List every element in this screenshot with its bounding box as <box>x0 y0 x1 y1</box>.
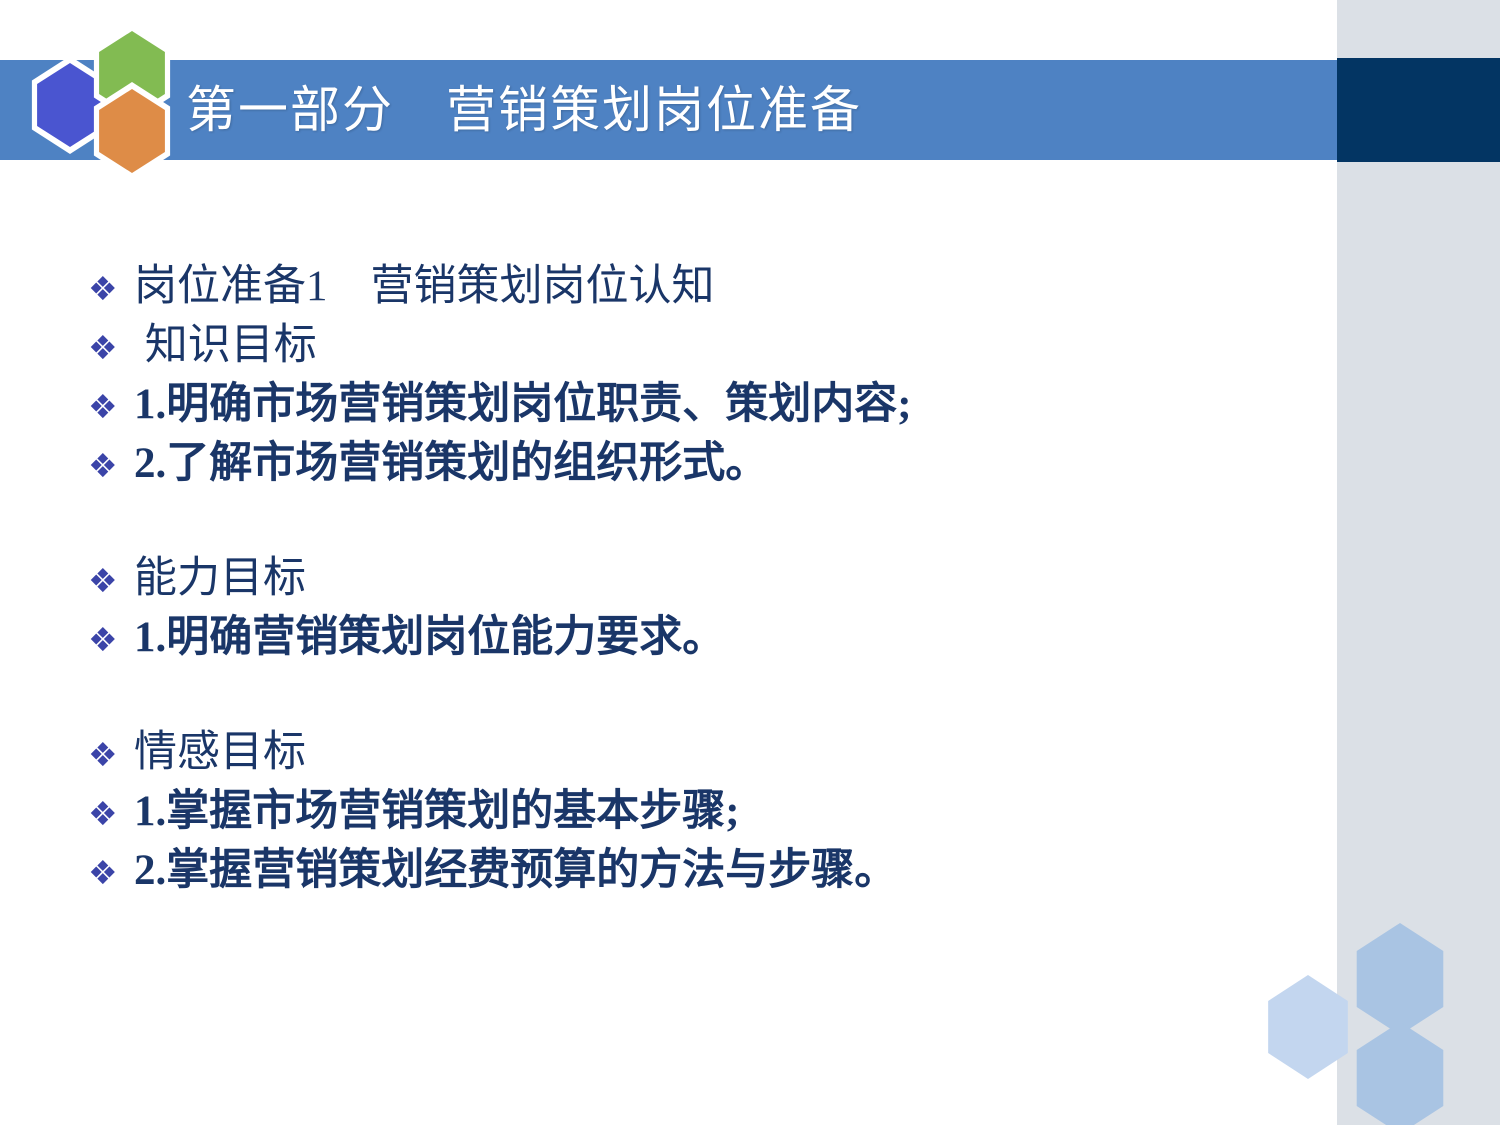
list-item-label: 情感目标 <box>134 724 306 781</box>
list-item-label: 2.掌握营销策划经费预算的方法与步骤。 <box>134 842 897 899</box>
list-item: ❖岗位准备1 营销策划岗位认知 <box>88 258 1288 317</box>
diamond-bullet-icon: ❖ <box>88 611 134 668</box>
list-item: ❖2.了解市场营销策划的组织形式。 <box>88 435 1288 494</box>
diamond-bullet-icon: ❖ <box>88 785 134 842</box>
list-item-label: 能力目标 <box>134 550 306 607</box>
list-item-label: 1.掌握市场营销策划的基本步骤; <box>134 783 740 840</box>
diamond-bullet-icon: ❖ <box>88 844 134 901</box>
diamond-bullet-icon: ❖ <box>88 726 134 783</box>
list-item: ❖1.明确市场营销策划岗位职责、策划内容; <box>88 376 1288 435</box>
list-item: ❖1.明确营销策划岗位能力要求。 <box>88 609 1288 668</box>
presentation-slide: 第一部分 营销策划岗位准备 ❖岗位准备1 营销策划岗位认知❖ 知识目标❖1.明确… <box>0 0 1500 1125</box>
page-title: 第一部分 营销策划岗位准备 <box>186 60 862 160</box>
diamond-bullet-icon: ❖ <box>88 319 134 376</box>
objectives-list: ❖岗位准备1 营销策划岗位认知❖ 知识目标❖1.明确市场营销策划岗位职责、策划内… <box>88 258 1288 901</box>
list-item: ❖ 知识目标 <box>88 317 1288 376</box>
list-item: ❖能力目标 <box>88 550 1288 609</box>
hexagon-logo <box>26 26 176 176</box>
list-item-label: 1.明确营销策划岗位能力要求。 <box>134 609 725 666</box>
list-item-label: 2.了解市场营销策划的组织形式。 <box>134 435 768 492</box>
diamond-bullet-icon: ❖ <box>88 552 134 609</box>
list-item-label: 岗位准备1 营销策划岗位认知 <box>134 258 715 315</box>
list-item: ❖2.掌握营销策划经费预算的方法与步骤。 <box>88 842 1288 901</box>
diamond-bullet-icon: ❖ <box>88 260 134 317</box>
list-item-label: 1.明确市场营销策划岗位职责、策划内容; <box>134 376 912 433</box>
diamond-bullet-icon: ❖ <box>88 378 134 435</box>
list-item-label: 知识目标 <box>134 317 317 374</box>
title-bar-accent-block <box>1337 58 1500 162</box>
diamond-bullet-icon: ❖ <box>88 437 134 494</box>
list-item: ❖1.掌握市场营销策划的基本步骤; <box>88 783 1288 842</box>
list-item: ❖情感目标 <box>88 724 1288 783</box>
